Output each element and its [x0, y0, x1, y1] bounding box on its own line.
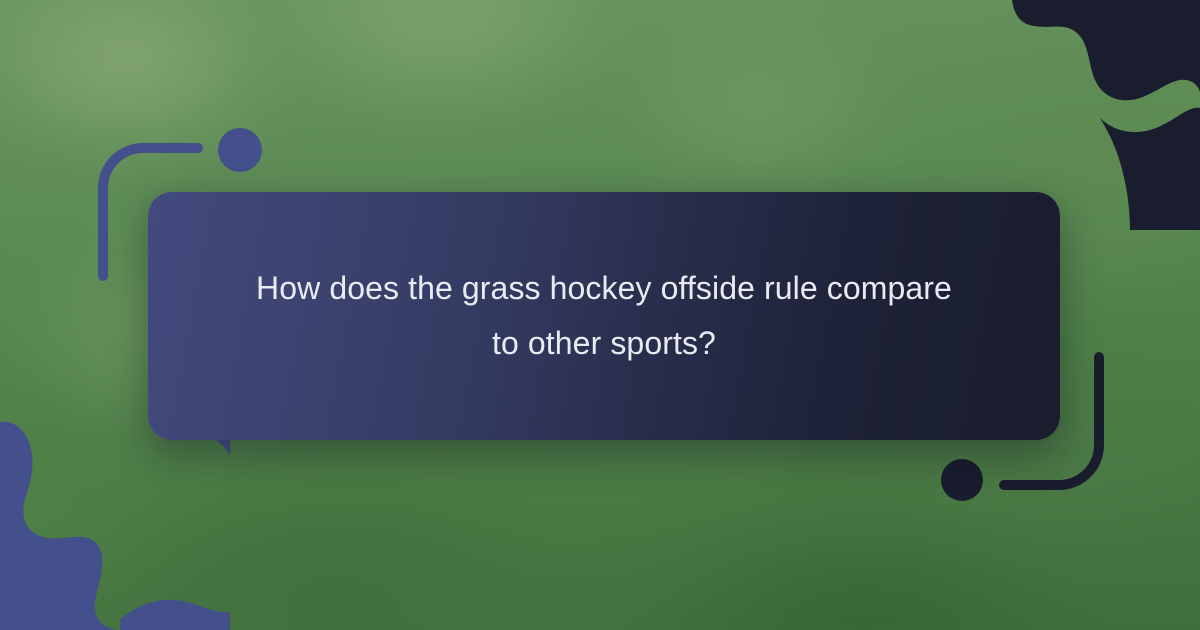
question-card-stage: How does the grass hockey offside rule c… — [0, 0, 1200, 630]
question-text: How does the grass hockey offside rule c… — [254, 261, 954, 371]
question-card: How does the grass hockey offside rule c… — [148, 192, 1060, 440]
blob-bottom-left — [0, 410, 230, 630]
dot-bottom-right-icon — [941, 459, 983, 501]
dot-top-left-icon — [218, 128, 262, 172]
bracket-bottom-right-icon — [1066, 352, 1176, 497]
